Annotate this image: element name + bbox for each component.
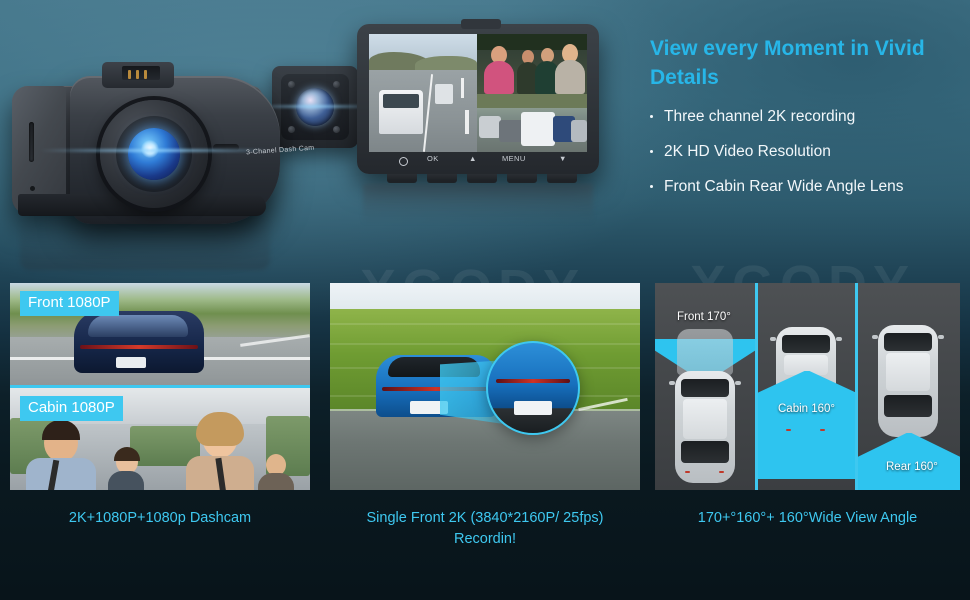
button-tab[interactable] <box>547 174 577 183</box>
bullet-dot-icon <box>650 150 653 153</box>
connector-pin <box>136 70 139 79</box>
caption-left-panel: 2K+1080P+1080p Dashcam <box>0 508 320 529</box>
rear-view-car <box>499 120 523 142</box>
side-mirror <box>938 335 944 339</box>
car-roof <box>886 353 930 391</box>
cabin-view-cone <box>758 371 855 479</box>
magnifier-circle <box>486 341 580 435</box>
screen-button-ok[interactable]: OK <box>427 154 439 163</box>
side-mirror <box>669 381 675 385</box>
taillight <box>719 471 724 473</box>
caption-line-2: Recordin! <box>330 529 640 550</box>
taillight <box>786 429 791 431</box>
bullet-dot-icon <box>650 185 653 188</box>
person-body <box>258 473 294 490</box>
feature-label: Front Cabin Rear Wide Angle Lens <box>664 178 904 195</box>
button-tab[interactable] <box>467 174 497 183</box>
sd-card-slot <box>29 122 34 162</box>
screen-front-view <box>369 34 477 152</box>
view-angle-front: Front 170° <box>655 283 755 490</box>
power-gear-icon[interactable] <box>399 157 408 166</box>
cabin-person-rear <box>258 454 294 490</box>
feature-label: 2K HD Video Resolution <box>664 143 831 160</box>
button-tab[interactable] <box>427 174 457 183</box>
badge-cabin-1080p: Cabin 1080P <box>20 396 123 421</box>
taillight <box>685 471 690 473</box>
feature-list: Three channel 2K recording 2K HD Video R… <box>650 108 960 196</box>
reset-hole-icon <box>30 186 35 191</box>
field-stripe <box>330 343 640 345</box>
label-rear-angle: Rear 160° <box>886 461 938 473</box>
screen-button-menu[interactable]: MENU <box>502 154 526 163</box>
camera-screw-icon <box>333 126 340 133</box>
panel-dual-channel: Front 1080P <box>10 283 310 490</box>
front-hood-overlay <box>677 329 733 375</box>
screen-reflection <box>363 184 593 224</box>
marketing-copy: View every Moment in Vivid Details Three… <box>650 34 960 213</box>
windshield <box>884 333 932 351</box>
lane-marking <box>465 110 469 134</box>
screen-button-down[interactable]: ▼ <box>559 154 567 163</box>
car-taillight <box>80 345 198 349</box>
feature-item: 2K HD Video Resolution <box>650 143 960 161</box>
panel-single-front-2k <box>330 283 640 490</box>
van-window <box>383 94 419 108</box>
rear-window <box>681 441 729 463</box>
screen-rear-view <box>477 94 587 152</box>
person-body <box>26 458 96 490</box>
taillight <box>820 429 825 431</box>
rear-view-trees <box>477 94 587 108</box>
button-tab[interactable] <box>387 174 417 183</box>
person-body <box>108 471 144 490</box>
front-view-truck <box>435 84 453 104</box>
dashcam-reflection <box>20 216 270 270</box>
lens-flare-streak <box>40 149 272 152</box>
road-surface <box>330 411 640 490</box>
rear-view-car <box>571 120 587 142</box>
feature-item: Three channel 2K recording <box>650 108 960 126</box>
dashcam-screen-unit: OK ▲ MENU ▼ <box>357 24 599 192</box>
screen-button-row: OK ▲ MENU ▼ <box>369 154 587 170</box>
caption-line-1: Single Front 2K (3840*2160P/ 25fps) <box>330 508 640 529</box>
caption-right-panel: 170+°160°+ 160°Wide View Angle <box>650 508 965 529</box>
person-hair <box>114 447 140 461</box>
cabin-person <box>555 44 585 94</box>
badge-front-1080p: Front 1080P <box>20 291 119 316</box>
field-stripe <box>330 323 640 325</box>
connector-pin <box>128 70 131 79</box>
side-mirror <box>770 337 776 341</box>
lane-marking <box>461 78 464 98</box>
side-mirror <box>735 381 741 385</box>
headline: View every Moment in Vivid Details <box>650 34 960 92</box>
label-cabin-angle: Cabin 160° <box>778 403 835 415</box>
car-roof <box>683 399 727 439</box>
person-body <box>484 61 514 94</box>
camera-screw-icon <box>288 81 295 88</box>
button-tab[interactable] <box>507 174 537 183</box>
license-plate <box>116 357 146 368</box>
screen-cabin-view <box>477 34 587 94</box>
side-mirror <box>836 337 842 341</box>
feature-label: Three channel 2K recording <box>664 108 855 125</box>
windshield <box>782 335 830 353</box>
screen-top-notch <box>461 19 501 29</box>
caption-middle-panel: Single Front 2K (3840*2160P/ 25fps) Reco… <box>330 508 640 550</box>
panel-view-angles: Front 170° Cabin 160° Rear 160° <box>655 283 960 490</box>
screen-button-tabs <box>373 174 585 183</box>
side-mirror <box>872 335 878 339</box>
cabin-person <box>483 46 515 94</box>
screen-display <box>369 34 587 152</box>
promo-banner: XGODY XGODY 3-Chanel Dash Cam <box>0 0 970 600</box>
person-body <box>555 60 585 94</box>
cabin-person-child <box>106 450 146 490</box>
rear-window <box>884 395 932 417</box>
feature-item: Front Cabin Rear Wide Angle Lens <box>650 178 960 196</box>
view-angle-rear: Rear 160° <box>858 283 960 490</box>
cabin-person-passenger <box>182 416 258 490</box>
bullet-dot-icon <box>650 115 653 118</box>
cabin-person-driver <box>26 424 96 490</box>
rear-view-car <box>521 112 555 146</box>
screen-button-up[interactable]: ▲ <box>469 154 477 163</box>
camera-screw-icon <box>288 126 295 133</box>
view-angle-cabin: Cabin 160° <box>758 283 855 490</box>
car-window <box>88 315 188 337</box>
person-hair <box>196 412 244 446</box>
connector-pin <box>144 70 147 79</box>
magnified-license-plate <box>514 401 552 415</box>
windshield <box>681 379 729 397</box>
rear-view-car <box>479 116 501 138</box>
magnified-taillight <box>496 379 570 383</box>
camera-screw-icon <box>333 81 340 88</box>
label-front-angle: Front 170° <box>677 311 731 323</box>
